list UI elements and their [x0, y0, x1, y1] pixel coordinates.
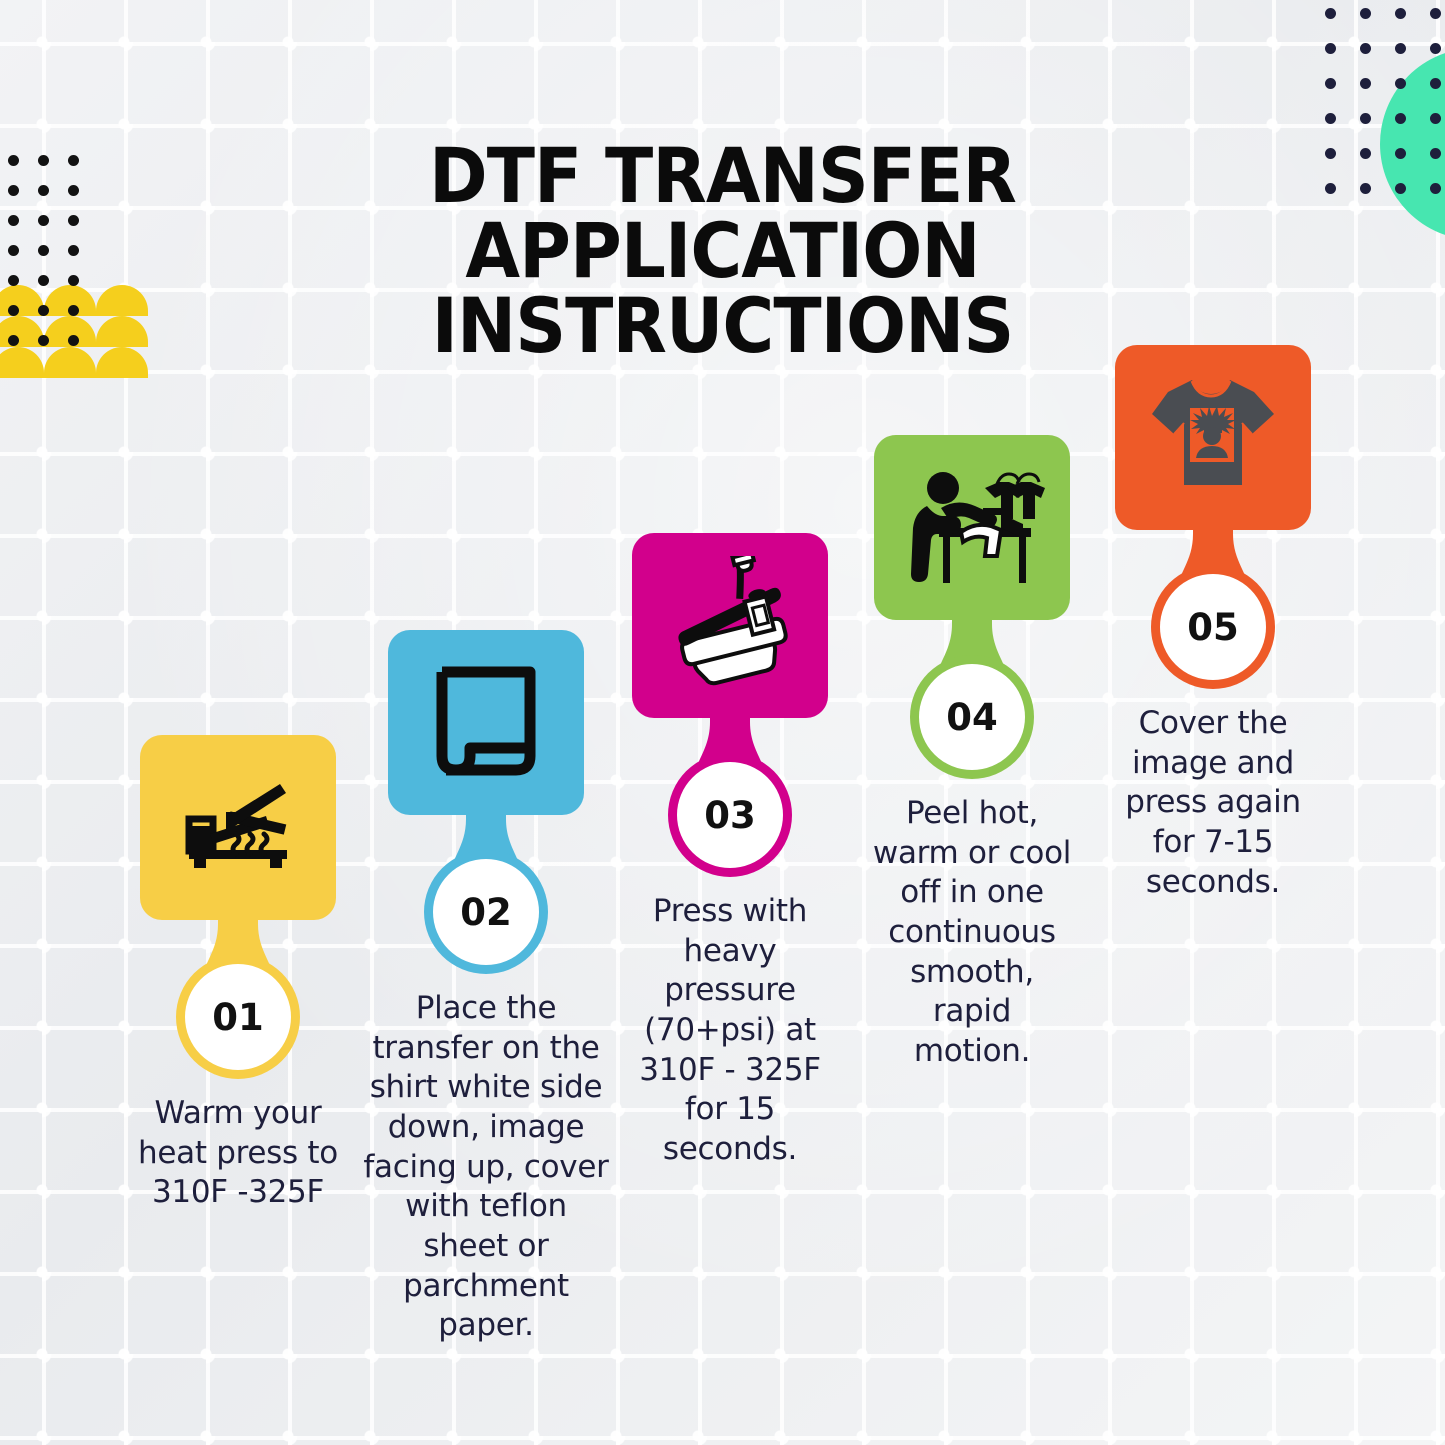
icon-card-04	[874, 435, 1070, 620]
step-caption-03: Press with heavy pressure (70+psi) at 31…	[621, 892, 839, 1170]
step-number-02: 02	[433, 859, 539, 965]
pin-05: 05	[1115, 345, 1311, 680]
transfer-sheet-icon	[426, 662, 546, 784]
step-caption-05: Cover the image and press again for 7-15…	[1115, 704, 1311, 902]
step-card-05: 05 Cover the image and press again for 7…	[1095, 345, 1331, 902]
peel-transfer-worker-icon	[897, 462, 1047, 594]
step-number-label: 04	[946, 696, 998, 739]
step-number-04: 04	[919, 664, 1025, 770]
pin-01: 01	[140, 735, 336, 1070]
step-number-01: 01	[185, 964, 291, 1070]
infographic-canvas: DTF TRANSFER APPLICATION INSTRUCTIONS	[0, 0, 1445, 1445]
pin-04: 04	[874, 435, 1070, 770]
step-card-04: 04 Peel hot, warm or cool off in one con…	[854, 435, 1090, 1072]
step-card-02: 02 Place the transfer on the shirt white…	[368, 630, 604, 1346]
step-caption-01: Warm your heat press to 310F -325F	[123, 1094, 353, 1213]
step-number-03: 03	[677, 762, 783, 868]
icon-card-01	[140, 735, 336, 920]
step-number-label: 01	[212, 996, 264, 1039]
step-caption-04: Peel hot, warm or cool off in one contin…	[872, 794, 1072, 1072]
step-caption-02: Place the transfer on the shirt white si…	[360, 989, 612, 1346]
step-number-label: 03	[704, 794, 756, 837]
printed-tshirt-icon	[1142, 372, 1284, 504]
icon-card-02	[388, 630, 584, 815]
pin-03: 03	[632, 533, 828, 868]
step-card-03: 03 Press with heavy pressure (70+psi) at…	[612, 533, 848, 1170]
step-card-01: 01 Warm your heat press to 310F -325F	[120, 735, 356, 1213]
step-number-label: 05	[1187, 606, 1239, 649]
icon-card-03	[632, 533, 828, 718]
icon-card-05	[1115, 345, 1311, 530]
step-number-05: 05	[1160, 574, 1266, 680]
step-number-label: 02	[460, 891, 512, 934]
pin-02: 02	[388, 630, 584, 965]
page-title: DTF TRANSFER APPLICATION INSTRUCTIONS	[51, 138, 1395, 364]
heat-press-open-icon	[174, 772, 302, 884]
heat-press-machine-icon	[660, 556, 800, 696]
